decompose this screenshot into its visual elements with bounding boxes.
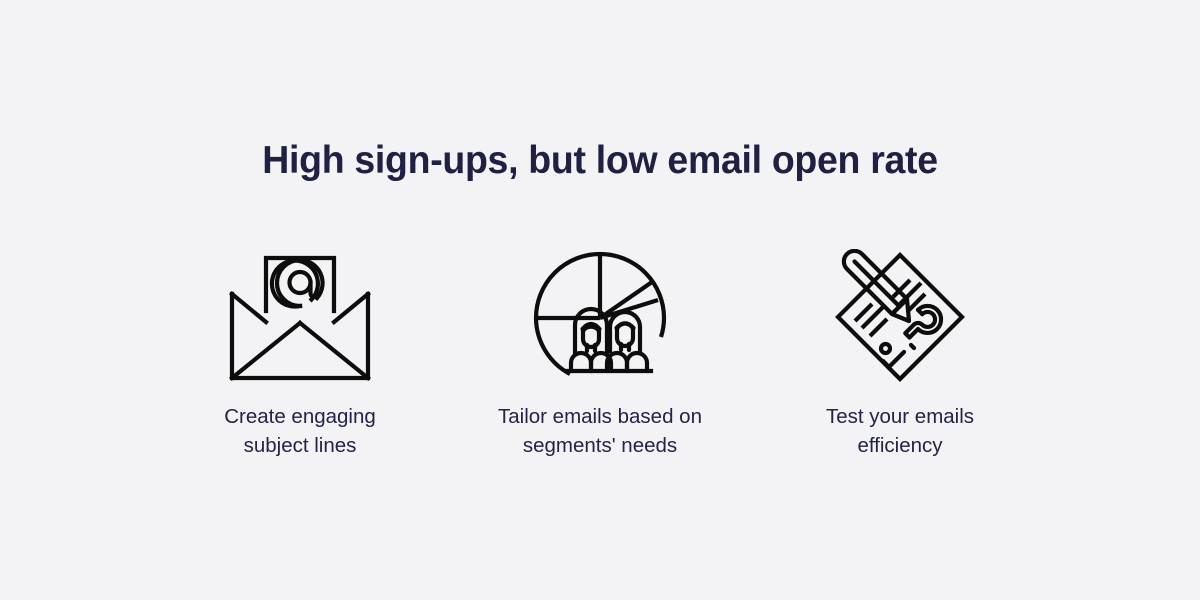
slide-canvas: High sign-ups, but low email open rate [0,0,1200,600]
icon-container-1 [225,243,375,388]
feature-column-3: Test your emails efficiency [750,243,1050,460]
feature-caption-3: Test your emails efficiency [826,402,974,460]
feature-column-1: Create engaging subject lines [150,243,450,460]
icon-container-2 [525,243,675,388]
feature-column-2: Tailor emails based on segments' needs [450,243,750,460]
feature-caption-2: Tailor emails based on segments' needs [498,402,702,460]
feature-caption-1: Create engaging subject lines [224,402,376,460]
feature-columns: Create engaging subject lines [150,243,1050,460]
document-pencil-question-mark-icon [832,249,968,383]
icon-container-3 [825,243,975,388]
page-title: High sign-ups, but low email open rate [24,136,1176,186]
pie-chart-audience-segments-icon [530,249,670,383]
open-envelope-at-sign-icon [227,249,373,383]
